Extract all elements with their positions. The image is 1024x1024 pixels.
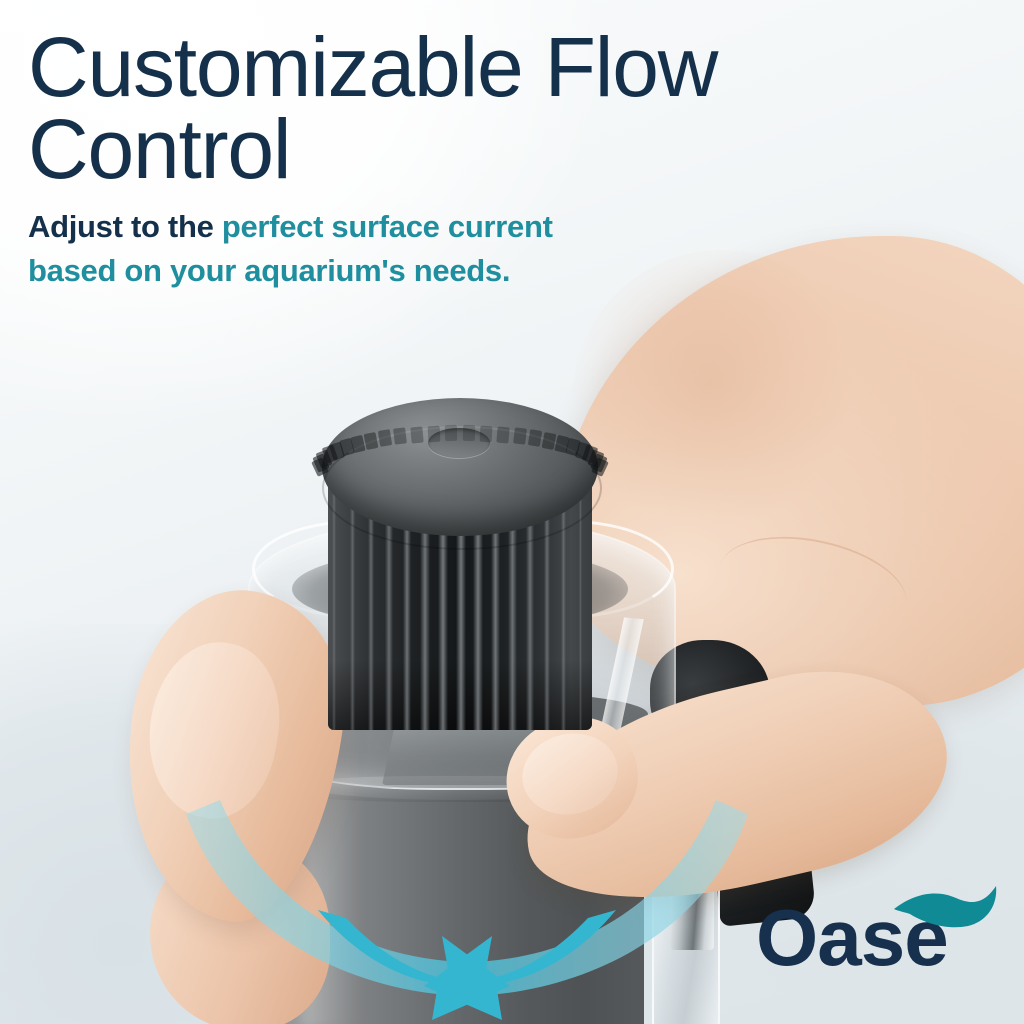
knob-cap-notch: [528, 429, 542, 447]
knob-cap-notch: [463, 425, 475, 441]
knob-cap-notch: [363, 432, 378, 450]
knob-cap-notch: [513, 427, 527, 444]
knob-cap-notch: [445, 425, 457, 441]
knob-rib: [579, 470, 583, 730]
flow-control-knob-cap[interactable]: [322, 398, 598, 536]
copy-block: Customizable Flow Control Adjust to the …: [28, 26, 968, 294]
subheading-lead: Adjust to the: [28, 209, 222, 244]
knob-cap-notch: [393, 427, 407, 444]
knob-rib: [332, 470, 336, 730]
wave-swoosh-icon: [892, 876, 1004, 934]
product-feature-banner: Customizable Flow Control Adjust to the …: [0, 0, 1024, 1024]
knob-cap-notch: [497, 426, 510, 443]
knob-cap-notch: [427, 425, 440, 442]
brand-logo: Oase: [756, 898, 948, 978]
knob-cap-notch: [480, 425, 493, 442]
knob-cap-notch: [410, 426, 423, 443]
subheading: Adjust to the perfect surface current ba…: [28, 205, 588, 294]
hand-shading: [572, 250, 872, 550]
page-title: Customizable Flow Control: [28, 26, 968, 191]
knob-cap-notch: [378, 429, 392, 447]
